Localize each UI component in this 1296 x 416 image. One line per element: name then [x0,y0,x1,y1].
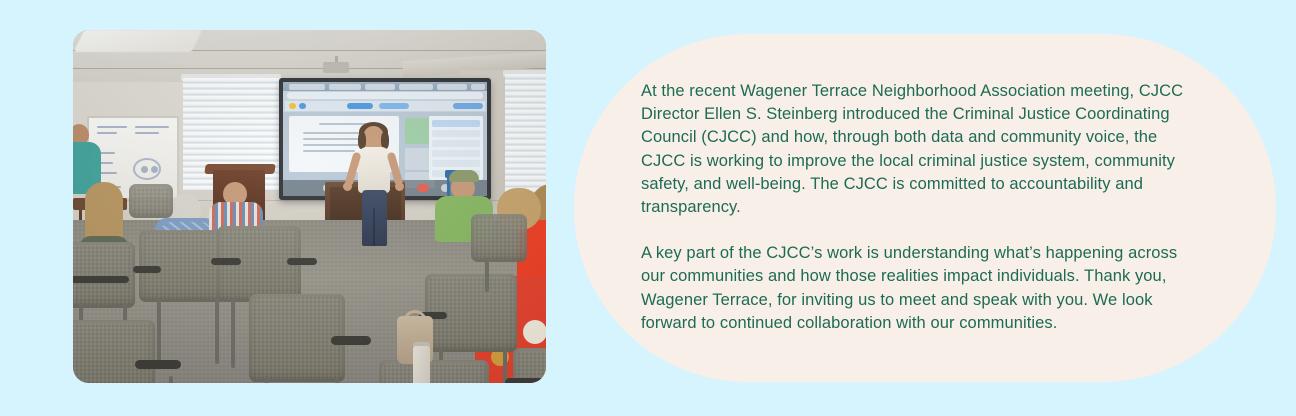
window-blinds-right [505,74,546,192]
meeting-photo [73,30,546,383]
text-content: At the recent Wagener Terrace Neighborho… [641,80,1203,335]
projector [323,62,349,73]
ceiling-light [74,30,203,52]
browser-tab-strip [283,82,487,91]
paragraph-2: A key part of the CJCC’s work is underst… [641,242,1203,335]
travel-tumbler [413,346,430,383]
text-panel: At the recent Wagener Terrace Neighborho… [574,34,1276,382]
app-toolbar [285,101,485,111]
browser-url-bar [287,92,483,99]
meeting-photo-card [73,30,546,383]
paragraph-1: At the recent Wagener Terrace Neighborho… [641,80,1203,219]
